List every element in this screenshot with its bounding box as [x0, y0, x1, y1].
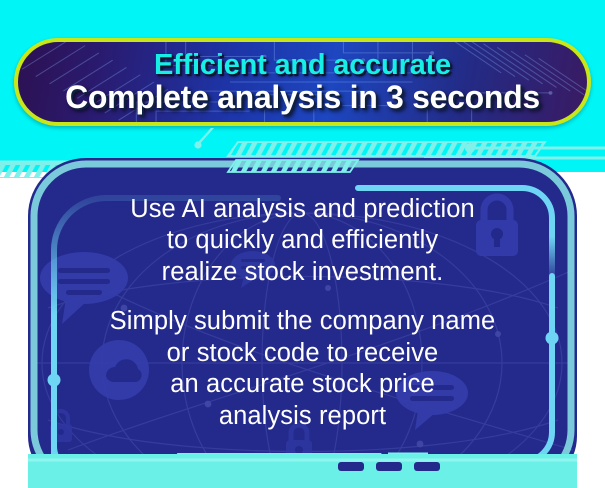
- copy-line: Use AI analysis and prediction: [28, 194, 577, 225]
- copy-line: analysis report: [28, 401, 577, 432]
- paragraph-primary: Use AI analysis and prediction to quickl…: [28, 194, 577, 288]
- copy-line: Simply submit the company name: [28, 306, 577, 337]
- panel-copy: Use AI analysis and prediction to quickl…: [28, 194, 577, 432]
- bottom-cyan-strip: [28, 454, 577, 488]
- banner-text-group: Efficient and accurate Complete analysis…: [18, 42, 587, 122]
- header-banner: Efficient and accurate Complete analysis…: [14, 38, 591, 126]
- copy-line: realize stock investment.: [28, 257, 577, 288]
- paragraph-secondary: Simply submit the company name or stock …: [28, 306, 577, 432]
- banner-subheadline: Complete analysis in 3 seconds: [65, 81, 540, 114]
- panel-background: Use AI analysis and prediction to quickl…: [28, 158, 577, 488]
- banner-headline: Efficient and accurate: [154, 50, 451, 80]
- copy-line: an accurate stock price: [28, 369, 577, 400]
- copy-line: to quickly and efficiently: [28, 225, 577, 256]
- poster-canvas: Efficient and accurate Complete analysis…: [0, 0, 605, 488]
- copy-line: or stock code to receive: [28, 338, 577, 369]
- main-content-panel: Use AI analysis and prediction to quickl…: [28, 158, 577, 488]
